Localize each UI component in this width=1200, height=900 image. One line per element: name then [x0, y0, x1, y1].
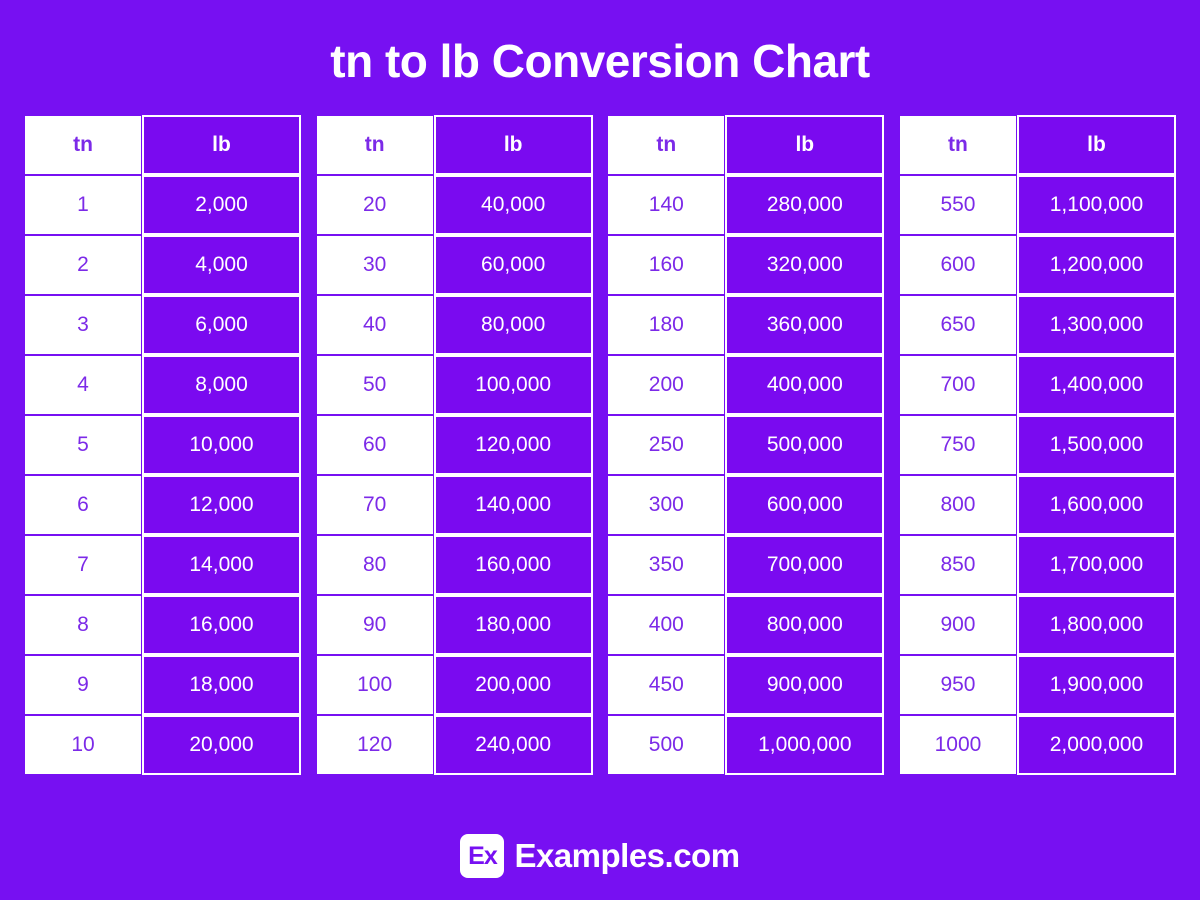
page-title: tn to lb Conversion Chart	[0, 0, 1200, 87]
cell-tn-value: 800	[899, 475, 1017, 535]
cell-lb-value: 4,000	[142, 235, 301, 295]
cell-tn-value: 450	[607, 655, 725, 715]
table-row: 612,000	[24, 475, 301, 535]
column-header-tn: tn	[316, 115, 434, 175]
table-row: 6001,200,000	[899, 235, 1176, 295]
column-header-lb: lb	[434, 115, 593, 175]
cell-lb-value: 12,000	[142, 475, 301, 535]
cell-tn-value: 10	[24, 715, 142, 775]
table-row: 90180,000	[316, 595, 593, 655]
table-row: 5001,000,000	[607, 715, 884, 775]
cell-lb-value: 360,000	[725, 295, 884, 355]
cell-tn-value: 6	[24, 475, 142, 535]
cell-tn-value: 60	[316, 415, 434, 475]
column-header-tn: tn	[24, 115, 142, 175]
cell-tn-value: 750	[899, 415, 1017, 475]
table-header-row: tnlb	[316, 115, 593, 175]
cell-lb-value: 320,000	[725, 235, 884, 295]
cell-tn-value: 2	[24, 235, 142, 295]
cell-lb-value: 900,000	[725, 655, 884, 715]
table-row: 200400,000	[607, 355, 884, 415]
table-header-row: tnlb	[607, 115, 884, 175]
cell-tn-value: 400	[607, 595, 725, 655]
table-row: 7501,500,000	[899, 415, 1176, 475]
conversion-table-2: tnlb2040,0003060,0004080,00050100,000601…	[316, 115, 593, 775]
cell-tn-value: 50	[316, 355, 434, 415]
cell-tn-value: 9	[24, 655, 142, 715]
table-row: 100200,000	[316, 655, 593, 715]
table-row: 714,000	[24, 535, 301, 595]
cell-tn-value: 200	[607, 355, 725, 415]
cell-tn-value: 4	[24, 355, 142, 415]
table-row: 6501,300,000	[899, 295, 1176, 355]
cell-tn-value: 1	[24, 175, 142, 235]
cell-tn-value: 120	[316, 715, 434, 775]
cell-lb-value: 100,000	[434, 355, 593, 415]
cell-tn-value: 350	[607, 535, 725, 595]
table-row: 450900,000	[607, 655, 884, 715]
table-row: 48,000	[24, 355, 301, 415]
cell-lb-value: 280,000	[725, 175, 884, 235]
table-row: 2040,000	[316, 175, 593, 235]
examples-logo-icon: Ex	[460, 834, 504, 878]
cell-tn-value: 70	[316, 475, 434, 535]
cell-lb-value: 1,900,000	[1017, 655, 1176, 715]
table-row: 250500,000	[607, 415, 884, 475]
table-row: 510,000	[24, 415, 301, 475]
table-row: 80160,000	[316, 535, 593, 595]
cell-tn-value: 30	[316, 235, 434, 295]
cell-tn-value: 500	[607, 715, 725, 775]
cell-lb-value: 700,000	[725, 535, 884, 595]
cell-lb-value: 500,000	[725, 415, 884, 475]
conversion-table-4: tnlb5501,100,0006001,200,0006501,300,000…	[899, 115, 1176, 775]
table-row: 8501,700,000	[899, 535, 1176, 595]
cell-tn-value: 20	[316, 175, 434, 235]
cell-lb-value: 160,000	[434, 535, 593, 595]
column-header-tn: tn	[607, 115, 725, 175]
cell-lb-value: 1,200,000	[1017, 235, 1176, 295]
table-row: 4080,000	[316, 295, 593, 355]
cell-tn-value: 300	[607, 475, 725, 535]
cell-tn-value: 100	[316, 655, 434, 715]
cell-lb-value: 1,000,000	[725, 715, 884, 775]
table-header-row: tnlb	[24, 115, 301, 175]
cell-lb-value: 20,000	[142, 715, 301, 775]
table-row: 140280,000	[607, 175, 884, 235]
conversion-tables-container: tnlb12,00024,00036,00048,000510,000612,0…	[0, 115, 1200, 775]
cell-lb-value: 600,000	[725, 475, 884, 535]
cell-tn-value: 600	[899, 235, 1017, 295]
cell-lb-value: 1,500,000	[1017, 415, 1176, 475]
cell-lb-value: 2,000	[142, 175, 301, 235]
table-row: 10002,000,000	[899, 715, 1176, 775]
cell-tn-value: 3	[24, 295, 142, 355]
table-row: 8001,600,000	[899, 475, 1176, 535]
table-row: 36,000	[24, 295, 301, 355]
cell-tn-value: 90	[316, 595, 434, 655]
cell-lb-value: 10,000	[142, 415, 301, 475]
cell-lb-value: 200,000	[434, 655, 593, 715]
cell-lb-value: 18,000	[142, 655, 301, 715]
cell-tn-value: 80	[316, 535, 434, 595]
table-row: 350700,000	[607, 535, 884, 595]
cell-tn-value: 850	[899, 535, 1017, 595]
cell-tn-value: 250	[607, 415, 725, 475]
table-header-row: tnlb	[899, 115, 1176, 175]
table-row: 70140,000	[316, 475, 593, 535]
cell-lb-value: 180,000	[434, 595, 593, 655]
column-header-tn: tn	[899, 115, 1017, 175]
table-row: 3060,000	[316, 235, 593, 295]
table-row: 400800,000	[607, 595, 884, 655]
cell-tn-value: 900	[899, 595, 1017, 655]
table-row: 120240,000	[316, 715, 593, 775]
column-header-lb: lb	[725, 115, 884, 175]
table-row: 12,000	[24, 175, 301, 235]
cell-lb-value: 140,000	[434, 475, 593, 535]
table-row: 9001,800,000	[899, 595, 1176, 655]
cell-lb-value: 800,000	[725, 595, 884, 655]
conversion-table-1: tnlb12,00024,00036,00048,000510,000612,0…	[24, 115, 301, 775]
table-row: 24,000	[24, 235, 301, 295]
table-row: 9501,900,000	[899, 655, 1176, 715]
conversion-table-3: tnlb140280,000160320,000180360,000200400…	[607, 115, 884, 775]
cell-lb-value: 8,000	[142, 355, 301, 415]
table-row: 180360,000	[607, 295, 884, 355]
cell-tn-value: 550	[899, 175, 1017, 235]
cell-tn-value: 1000	[899, 715, 1017, 775]
table-row: 50100,000	[316, 355, 593, 415]
cell-tn-value: 180	[607, 295, 725, 355]
examples-logo-text: Examples.com	[514, 837, 739, 875]
cell-tn-value: 40	[316, 295, 434, 355]
cell-lb-value: 60,000	[434, 235, 593, 295]
table-row: 300600,000	[607, 475, 884, 535]
cell-lb-value: 14,000	[142, 535, 301, 595]
table-row: 918,000	[24, 655, 301, 715]
cell-tn-value: 700	[899, 355, 1017, 415]
cell-lb-value: 80,000	[434, 295, 593, 355]
column-header-lb: lb	[1017, 115, 1176, 175]
cell-lb-value: 1,800,000	[1017, 595, 1176, 655]
cell-lb-value: 1,400,000	[1017, 355, 1176, 415]
cell-lb-value: 6,000	[142, 295, 301, 355]
cell-lb-value: 1,600,000	[1017, 475, 1176, 535]
table-row: 1020,000	[24, 715, 301, 775]
cell-tn-value: 140	[607, 175, 725, 235]
table-row: 5501,100,000	[899, 175, 1176, 235]
cell-lb-value: 1,100,000	[1017, 175, 1176, 235]
cell-tn-value: 950	[899, 655, 1017, 715]
cell-tn-value: 5	[24, 415, 142, 475]
cell-lb-value: 16,000	[142, 595, 301, 655]
cell-lb-value: 400,000	[725, 355, 884, 415]
cell-lb-value: 40,000	[434, 175, 593, 235]
table-row: 7001,400,000	[899, 355, 1176, 415]
column-header-lb: lb	[142, 115, 301, 175]
cell-tn-value: 7	[24, 535, 142, 595]
cell-tn-value: 650	[899, 295, 1017, 355]
table-row: 160320,000	[607, 235, 884, 295]
cell-lb-value: 2,000,000	[1017, 715, 1176, 775]
footer-branding: Ex Examples.com	[0, 834, 1200, 878]
cell-tn-value: 8	[24, 595, 142, 655]
cell-lb-value: 1,700,000	[1017, 535, 1176, 595]
cell-lb-value: 1,300,000	[1017, 295, 1176, 355]
table-row: 60120,000	[316, 415, 593, 475]
cell-tn-value: 160	[607, 235, 725, 295]
table-row: 816,000	[24, 595, 301, 655]
cell-lb-value: 120,000	[434, 415, 593, 475]
cell-lb-value: 240,000	[434, 715, 593, 775]
